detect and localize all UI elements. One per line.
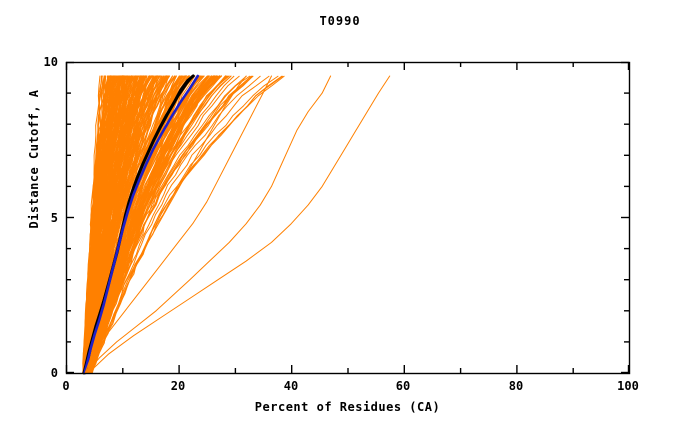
plot-area	[0, 0, 680, 440]
chart-canvas: T0990 Distance Cutoff, A Percent of Resi…	[0, 0, 680, 440]
curve-group	[83, 76, 390, 373]
